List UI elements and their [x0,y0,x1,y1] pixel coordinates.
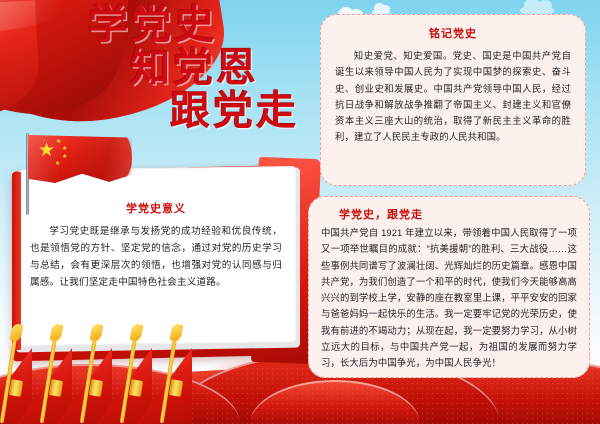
card-top-right-title: 铭记党史 [335,25,571,41]
red-flag-row [0,326,244,424]
flag-star-large: ★ [38,141,55,160]
red-flag-icon [154,326,208,424]
poster-canvas: 学党史 知党恩 跟党走 ★ ★ ★ ★ ★ 学党史意义 学习党史既是继承与发扬党… [0,0,600,424]
flag-star-small: ★ [55,161,60,167]
card-bottom-right-title: 学党史，跟党走 [339,206,577,222]
card-left: 学党史意义 学习党史既是继承与发扬党的成功经验和优良传统，也是领悟党的方针、坚定… [30,200,282,340]
card-bottom-right: 学党史，跟党走 中国共产党自 1921 年建立以来，带领着中国人民取得了一项又一… [308,196,590,378]
flag-star-small: ★ [62,146,67,152]
card-top-right-body: 知史爱党、知史爱国。党史、国史是中国共产党自诞生以来领导中国人民为了实现中国梦的… [335,48,571,146]
card-left-body: 学习党史既是继承与发扬党的成功经验和优良传统，也是领悟党的方针、坚定党的信念，通… [30,223,282,291]
red-hill [250,380,420,424]
card-bottom-right-body: 中国共产党自 1921 年建立以来，带领着中国人民取得了一项又一项举世瞩目的成就… [321,225,577,372]
flag-star-small: ★ [62,154,67,160]
card-top-right: 铭记党史 知史爱党、知史爱国。党史、国史是中国共产党自诞生以来领导中国人民为了实… [320,14,586,186]
flag-star-small: ★ [56,139,61,145]
card-left-title: 学党史意义 [30,200,282,216]
